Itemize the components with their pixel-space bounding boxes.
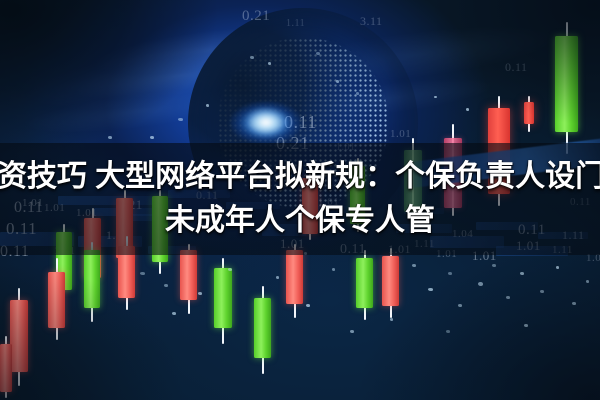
headline-line-1: 配资技巧 大型网络平台拟新规：个保负责人设门槛 <box>0 157 600 197</box>
headline-line-2: 未成年人个保专人管 <box>165 201 435 241</box>
news-banner-image: 0.213.111.110.110.211.010.111.011.010.11… <box>0 0 600 400</box>
headline-block: 配资技巧 大型网络平台拟新规：个保负责人设门槛 未成年人个保专人管 <box>0 143 600 255</box>
